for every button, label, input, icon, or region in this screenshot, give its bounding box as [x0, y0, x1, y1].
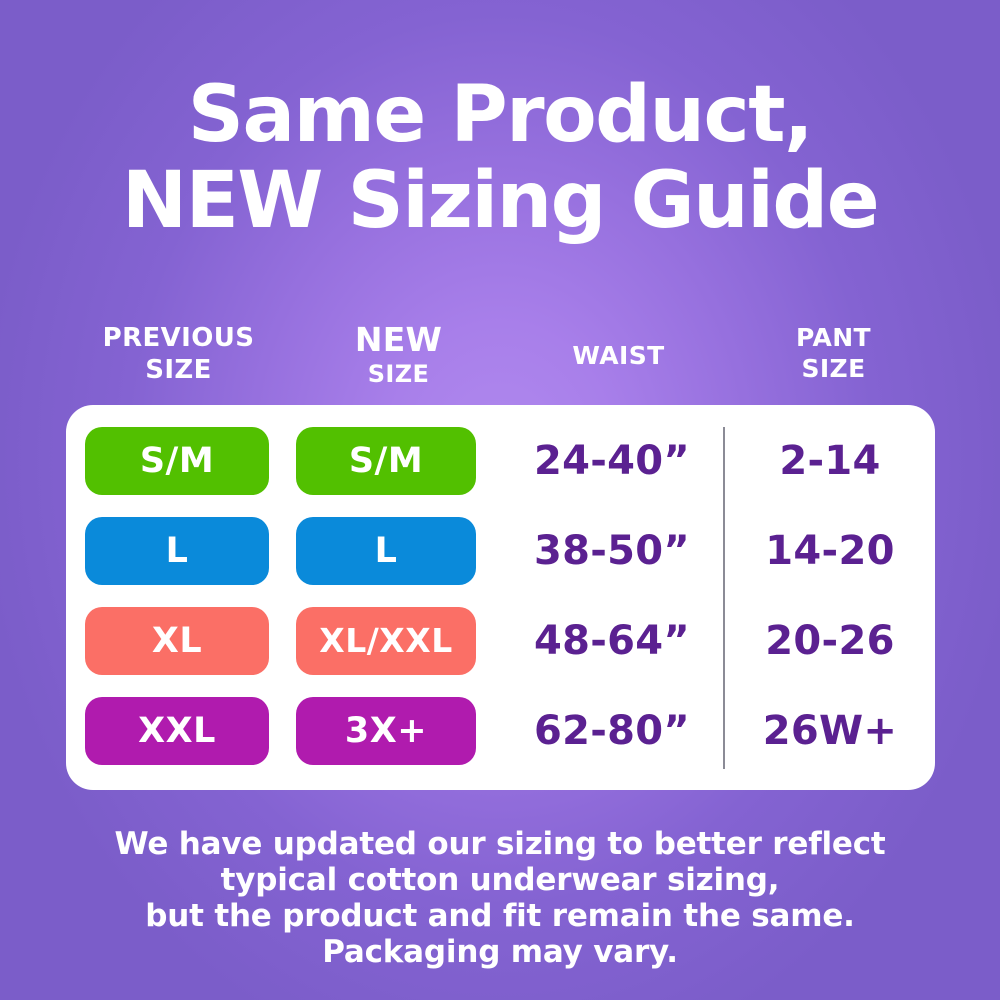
pant-size-value: 2-14: [725, 427, 935, 495]
column-header-new-size-line1: NEW: [291, 322, 506, 357]
pant-size-value: 20-26: [725, 607, 935, 675]
column-header-new-size: NEW SIZE: [291, 322, 506, 390]
table-row: XL XL/XXL 48-64” 20-26: [66, 596, 935, 686]
waist-value: 38-50”: [503, 517, 721, 585]
waist-value: 48-64”: [503, 607, 721, 675]
column-header-waist-line1: WAIST: [506, 322, 731, 372]
column-header-previous-size-line1: PREVIOUS: [66, 322, 291, 354]
pant-size-value: 26W+: [725, 697, 935, 765]
footer-line-1: We have updated our sizing to better ref…: [0, 826, 1000, 862]
table-row: S/M S/M 24-40” 2-14: [66, 416, 935, 506]
column-header-pant-size-line1: PANT: [731, 322, 936, 353]
footer-line-4: Packaging may vary.: [0, 934, 1000, 970]
footer-note: We have updated our sizing to better ref…: [0, 826, 1000, 970]
footer-line-3: but the product and fit remain the same.: [0, 898, 1000, 934]
size-chart-card: S/M S/M 24-40” 2-14 L L 38-50” 14-20 XL …: [66, 405, 935, 790]
column-header-pant-size-line2: SIZE: [731, 353, 936, 384]
column-header-previous-size: PREVIOUS SIZE: [66, 322, 291, 386]
table-column-headers: PREVIOUS SIZE NEW SIZE WAIST PANT SIZE: [66, 322, 936, 402]
new-size-pill: S/M: [296, 427, 476, 495]
column-header-new-size-line2: SIZE: [291, 357, 506, 390]
title-line-2: NEW Sizing Guide: [0, 158, 1000, 244]
pant-size-value: 14-20: [725, 517, 935, 585]
waist-value: 62-80”: [503, 697, 721, 765]
previous-size-pill: L: [85, 517, 269, 585]
previous-size-pill: XXL: [85, 697, 269, 765]
new-size-pill: L: [296, 517, 476, 585]
page-title: Same Product, NEW Sizing Guide: [0, 72, 1000, 244]
new-size-pill: XL/XXL: [296, 607, 476, 675]
column-header-waist: WAIST: [506, 322, 731, 372]
footer-line-2: typical cotton underwear sizing,: [0, 862, 1000, 898]
table-row: L L 38-50” 14-20: [66, 506, 935, 596]
column-header-previous-size-line2: SIZE: [66, 354, 291, 386]
column-header-pant-size: PANT SIZE: [731, 322, 936, 384]
new-size-pill: 3X+: [296, 697, 476, 765]
sizing-guide-infographic: Same Product, NEW Sizing Guide PREVIOUS …: [0, 0, 1000, 1000]
previous-size-pill: XL: [85, 607, 269, 675]
title-line-1: Same Product,: [0, 72, 1000, 158]
previous-size-pill: S/M: [85, 427, 269, 495]
waist-value: 24-40”: [503, 427, 721, 495]
table-row: XXL 3X+ 62-80” 26W+: [66, 686, 935, 776]
